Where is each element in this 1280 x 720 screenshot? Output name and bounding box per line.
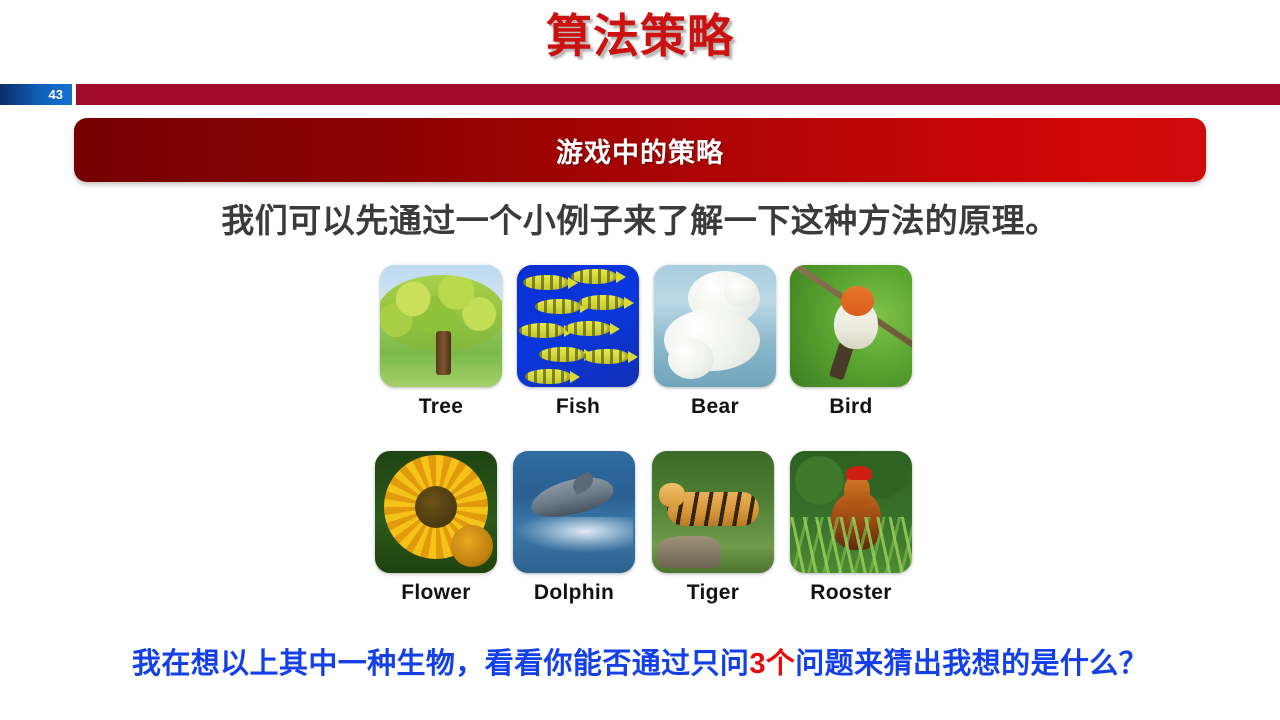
- grid-tile-flower: Flower: [375, 451, 497, 605]
- page-number-badge: 43: [0, 84, 72, 105]
- tile-label: Fish: [517, 395, 639, 419]
- fish-photo: [517, 265, 639, 387]
- question-highlight: 3个: [749, 648, 795, 680]
- header-rule-row: 43: [0, 84, 1280, 105]
- tile-label: Bear: [654, 395, 776, 419]
- grid-tile-tree: Tree: [380, 265, 502, 419]
- tile-label: Tiger: [652, 581, 774, 605]
- tile-label: Tree: [380, 395, 502, 419]
- tile-label: Flower: [375, 581, 497, 605]
- rooster-photo: [790, 451, 912, 573]
- tile-label: Dolphin: [513, 581, 635, 605]
- question-line: 我在想以上其中一种生物，看看你能否通过只问3个问题来猜出我想的是什么？: [0, 640, 1280, 682]
- flower-photo: [375, 451, 497, 573]
- grid-row: Flower Dolphin Tiger: [0, 451, 1280, 637]
- grid-row: Tree Fish: [0, 265, 1280, 451]
- grid-tile-rooster: Rooster: [790, 451, 912, 605]
- tile-label: Bird: [790, 395, 912, 419]
- bear-photo: [654, 265, 776, 387]
- question-part-1: 我在想以上其中一种生物，看看你能否通过只问: [132, 648, 749, 680]
- header-divider: [76, 84, 1280, 105]
- section-banner: 游戏中的策略: [74, 118, 1206, 182]
- lead-sentence: 我们可以先通过一个小例子来了解一下这种方法的原理。: [0, 194, 1280, 242]
- grid-tile-bear: Bear: [654, 265, 776, 419]
- question-part-2: 问题来猜出我想的是什么？: [795, 648, 1148, 680]
- grid-tile-tiger: Tiger: [652, 451, 774, 605]
- grid-tile-dolphin: Dolphin: [513, 451, 635, 605]
- dolphin-photo: [513, 451, 635, 573]
- bird-photo: [790, 265, 912, 387]
- grid-tile-fish: Fish: [517, 265, 639, 419]
- tree-photo: [380, 265, 502, 387]
- tile-label: Rooster: [790, 581, 912, 605]
- tiger-photo: [652, 451, 774, 573]
- creature-grid: Tree Fish: [0, 265, 1280, 637]
- section-banner-label: 游戏中的策略: [556, 131, 724, 170]
- page-title: 算法策略: [0, 8, 1280, 66]
- grid-tile-bird: Bird: [790, 265, 912, 419]
